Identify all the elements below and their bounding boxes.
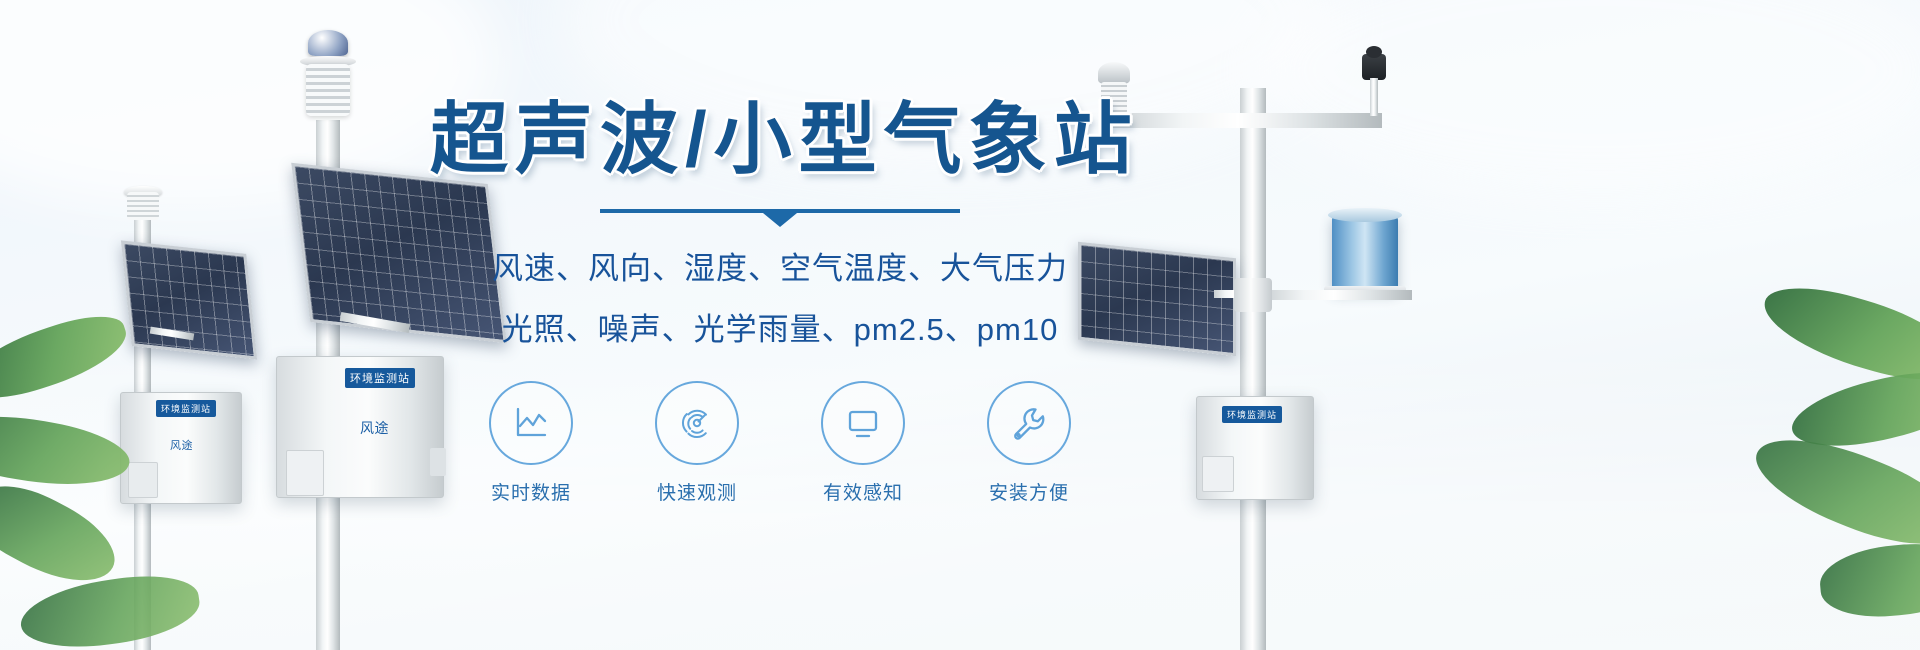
cabinet-vent	[1202, 456, 1234, 492]
cabinet-label: 环境监测站	[1222, 406, 1282, 423]
line-chart-icon	[489, 381, 573, 465]
banner-text-block: 超声波/小型气象站 风速、风向、湿度、空气温度、大气压力 光照、噪声、光学雨量、…	[430, 96, 1130, 505]
cabinet-label: 环境监测站	[156, 400, 216, 417]
solar-panel	[121, 240, 257, 359]
feature-item-easy-install[interactable]: 安装方便	[974, 381, 1084, 505]
feature-item-fast-observation[interactable]: 快速观测	[642, 381, 752, 505]
rain-gauge-funnel	[1328, 208, 1402, 222]
rain-gauge-cylinder	[1332, 214, 1398, 290]
feature-item-realtime-data[interactable]: 实时数据	[476, 381, 586, 505]
pole-clamp	[1234, 278, 1272, 312]
feature-label: 实时数据	[476, 478, 586, 505]
ultrasonic-sensor-head	[1098, 62, 1130, 84]
subtitle-line-2: 光照、噪声、光学雨量、pm2.5、pm10	[430, 304, 1130, 349]
feature-label: 快速观测	[642, 478, 752, 505]
product-banner: 环境监测站 风途 环境监测站 风途	[0, 0, 1920, 650]
divider-triangle-icon	[763, 213, 797, 227]
wrench-tool-icon	[987, 381, 1071, 465]
feature-list: 实时数据 快速观测	[430, 381, 1130, 505]
title-divider	[600, 209, 960, 213]
radar-observation-icon	[655, 381, 739, 465]
sensor-stem	[1370, 78, 1378, 116]
mast-pole	[1240, 88, 1266, 650]
sensor-dome	[308, 30, 348, 56]
cabinet-vent	[128, 462, 158, 498]
optical-sensor-lens	[1366, 46, 1382, 58]
radiation-shield-plates	[306, 64, 350, 116]
sensor-shelf	[1262, 290, 1412, 300]
feature-item-effective-sensing[interactable]: 有效感知	[808, 381, 918, 505]
cloud-decoration	[1250, 0, 1920, 200]
cabinet-vent	[286, 450, 324, 496]
radiation-shield-plates	[127, 192, 159, 220]
feature-label: 有效感知	[808, 478, 918, 505]
subtitle-line-1: 风速、风向、湿度、空气温度、大气压力	[430, 243, 1130, 288]
feature-label: 安装方便	[974, 478, 1084, 505]
brand-mark: 风途	[170, 437, 193, 453]
page-title: 超声波/小型气象站	[430, 96, 1130, 183]
cross-arm	[1106, 113, 1382, 128]
brand-mark: 风途	[360, 418, 389, 438]
cabinet-label: 环境监测站	[345, 368, 415, 388]
monitor-display-icon	[821, 381, 905, 465]
